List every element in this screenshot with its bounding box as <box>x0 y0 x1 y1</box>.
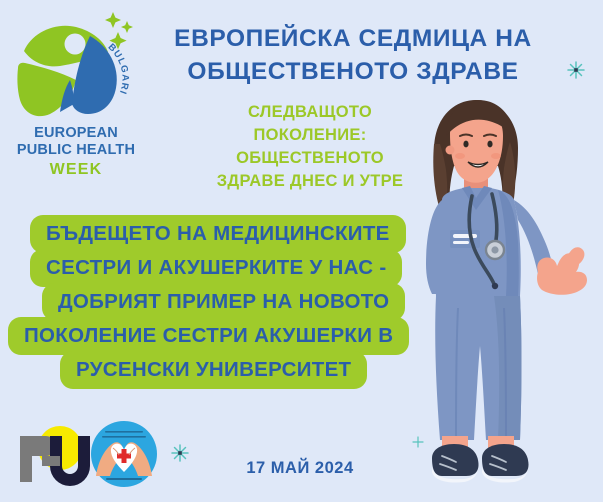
banner-line: ДОБРИЯТ ПРИМЕР НА НОВОТО <box>42 283 405 321</box>
person-leaf-logo-icon: BULGARIA <box>12 8 140 128</box>
page-title-line1: ЕВРОПЕЙСКА СЕДМИЦА НА <box>143 22 563 55</box>
page-subtitle-line1: СЛЕДВАЩОТО <box>175 101 445 124</box>
page-subtitle-line4: ЗДРАВЕ ДНЕС И УТРЕ <box>175 170 445 193</box>
teal-sparkle-icon <box>566 60 586 85</box>
banner-line: СЕСТРИ И АКУШЕРКИТЕ У НАС - <box>30 249 402 287</box>
eph-logo-line1: EUROPEAN <box>6 125 146 142</box>
banner-line: БЪДЕЩЕТО НА МЕДИЦИНСКИТЕ <box>30 215 406 253</box>
european-public-health-week-logo: BULGARIA EUROPEAN PUBLIC HEALTH WEEK <box>6 8 146 188</box>
page-title-line2: ОБЩЕСТВЕНОТО ЗДРАВЕ <box>143 55 563 88</box>
hands-heart-red-cross-logo-icon <box>90 420 158 488</box>
page-subtitle-line2: ПОКОЛЕНИЕ: <box>175 124 445 147</box>
eph-logo-week: WEEK <box>6 160 146 180</box>
page-title: ЕВРОПЕЙСКА СЕДМИЦА НА ОБЩЕСТВЕНОТО ЗДРАВ… <box>143 22 563 88</box>
eph-logo-line2: PUBLIC HEALTH <box>6 142 146 159</box>
teal-sparkle-icon <box>170 443 190 468</box>
poster-canvas: BULGARIA EUROPEAN PUBLIC HEALTH WEEK <box>0 0 603 502</box>
page-subtitle: СЛЕДВАЩОТО ПОКОЛЕНИЕ: ОБЩЕСТВЕНОТО ЗДРАВ… <box>175 101 445 193</box>
teal-sparkle-icon <box>412 435 424 453</box>
page-subtitle-line3: ОБЩЕСТВЕНОТО <box>175 147 445 170</box>
eph-logo-wordmark: EUROPEAN PUBLIC HEALTH WEEK <box>6 125 146 180</box>
rusenski-universitet-logo-icon <box>12 420 92 490</box>
banner-line: РУСЕНСКИ УНИВЕРСИТЕТ <box>60 351 367 389</box>
banner-line: ПОКОЛЕНИЕ СЕСТРИ АКУШЕРКИ В <box>8 317 409 355</box>
sparkle-stars-icon <box>105 12 133 49</box>
event-title-banner: БЪДЕЩЕТО НА МЕДИЦИНСКИТЕ СЕСТРИ И АКУШЕР… <box>0 215 500 385</box>
event-date: 17 МАЙ 2024 <box>200 459 400 478</box>
